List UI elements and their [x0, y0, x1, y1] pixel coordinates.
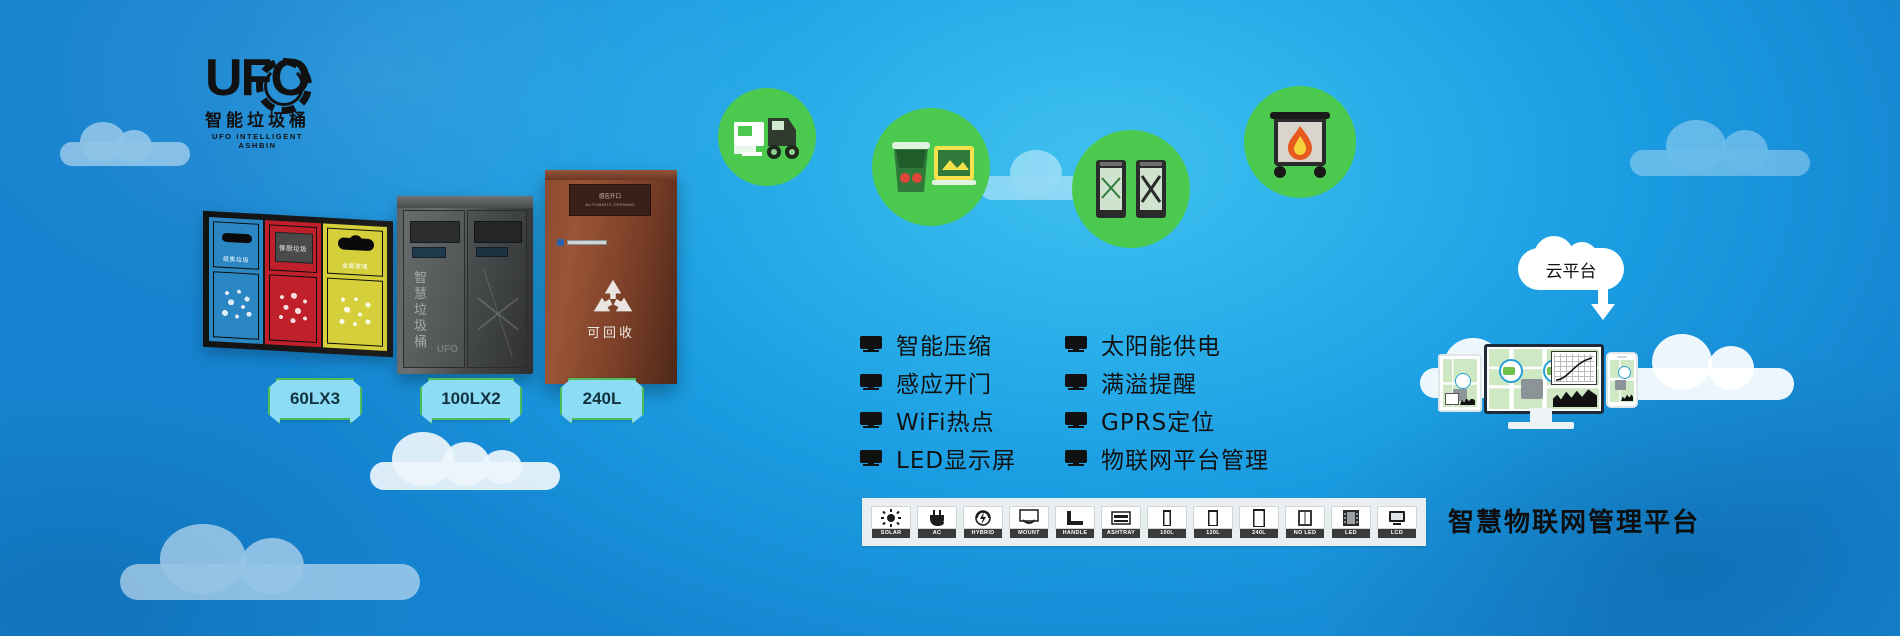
feature-circle-twin-bins [1072, 130, 1190, 248]
feature-label: 太阳能供电 [1101, 327, 1221, 361]
feature-label: 物联网平台管理 [1101, 441, 1269, 475]
monitor-bullet-icon [1065, 374, 1087, 390]
ufo-ring-inner-icon [264, 66, 304, 106]
feature-item: 太阳能供电 [1065, 325, 1269, 363]
capacity-banner-240l: 240L [568, 378, 636, 420]
capacity-label: 240L [583, 389, 622, 409]
spec-item-no-led: NO LED [1285, 506, 1325, 538]
spec-label: NO LED [1286, 529, 1324, 538]
desktop-monitor-device [1484, 344, 1604, 414]
spec-label: HYBRID [964, 529, 1002, 538]
bin-compartment-kitchen: 餐厨垃圾 [265, 220, 321, 347]
smart-bin-side-text: 智慧垃圾桶 [414, 271, 431, 351]
spec-item-hybrid: HYBRID [963, 506, 1003, 538]
capacity-banner-60lx3: 60LX3 [276, 378, 354, 420]
spec-item-ashtray: ASHTRAY [1101, 506, 1141, 538]
bin-100l-icon [1147, 506, 1187, 529]
spec-item-handle: HANDLE [1055, 506, 1095, 538]
spec-label: 120L [1194, 529, 1232, 538]
spec-label: 240L [1240, 529, 1278, 538]
spec-label: ASHTRAY [1102, 529, 1140, 538]
spec-icon-strip: SOLAR AC HYBRID MOUNT [862, 498, 1426, 546]
monitor-bullet-icon [1065, 336, 1087, 352]
bin-compartment-paper: 纸类垃圾 [209, 217, 263, 344]
spec-label: LED [1332, 529, 1370, 538]
cloud-platform-badge: 云平台 [1518, 248, 1624, 290]
spec-label: HANDLE [1056, 529, 1094, 538]
wall-mount-icon [1009, 506, 1049, 529]
feature-column-left: 智能压缩 感应开门 WiFi热点 LED显示屏 [860, 325, 1016, 477]
spec-label: MOUNT [1010, 529, 1048, 538]
bin-120l-icon [1193, 506, 1233, 529]
spec-label: SOLAR [872, 529, 910, 538]
monitor-bullet-icon [1065, 412, 1087, 428]
spec-item-240l: 240L [1239, 506, 1279, 538]
feature-item: 感应开门 [860, 363, 1016, 401]
spec-item-ac: AC [917, 506, 957, 538]
recycle-icon [591, 278, 635, 320]
compartment-label: 纸类垃圾 [214, 253, 258, 264]
feature-column-right: 太阳能供电 满溢提醒 GPRS定位 物联网平台管理 [1065, 325, 1269, 477]
feature-circle-compaction [718, 88, 816, 186]
recycle-bin-top-panel: 感应开口 AUTOMATIC OPENING [569, 184, 651, 216]
solar-panel-bin-icon [872, 108, 990, 226]
spec-item-100l: 100L [1147, 506, 1187, 538]
recycle-bin-top-subtext: AUTOMATIC OPENING [570, 202, 650, 207]
feature-label: 智能压缩 [896, 327, 992, 361]
monitor-bullet-icon [860, 412, 882, 428]
cloud-decoration [1630, 120, 1810, 176]
hybrid-power-icon [963, 506, 1003, 529]
product-recycle-bin: 感应开口 AUTOMATIC OPENING 可回收 [545, 170, 677, 384]
twin-bins-icon [1072, 130, 1190, 248]
platform-title: 智慧物联网管理平台 [1448, 502, 1700, 539]
capacity-label: 60LX3 [290, 389, 340, 409]
compartment-label: 金属玻璃 [328, 260, 382, 272]
no-led-icon [1285, 506, 1325, 529]
cloud-decoration [370, 430, 560, 490]
feature-item: GPRS定位 [1065, 401, 1269, 439]
monitor-base [1508, 422, 1574, 429]
recycle-bin-front-text: 可回收 [545, 322, 677, 341]
spec-label: LCD [1378, 529, 1416, 538]
spec-item-solar: SOLAR [871, 506, 911, 538]
spec-item-lcd: LCD [1377, 506, 1417, 538]
feature-label: LED显示屏 [896, 441, 1016, 475]
feature-label: WiFi热点 [896, 403, 995, 437]
smartphone-device [1606, 352, 1638, 408]
capacity-banner-100lx2: 100LX2 [428, 378, 514, 420]
recycle-bin-top-text: 感应开口 [570, 192, 650, 200]
cloud-decoration [60, 120, 190, 168]
monitor-stand [1530, 408, 1552, 422]
spec-label: AC [918, 529, 956, 538]
feature-item: LED显示屏 [860, 439, 1016, 477]
download-arrow-icon [1588, 286, 1618, 322]
monitor-bullet-icon [1065, 450, 1087, 466]
feature-item: WiFi热点 [860, 401, 1016, 439]
monitor-bullet-icon [860, 450, 882, 466]
spec-item-mount: MOUNT [1009, 506, 1049, 538]
feature-label: 感应开门 [896, 365, 992, 399]
sun-icon [871, 506, 911, 529]
feature-label: 满溢提醒 [1101, 365, 1197, 399]
fire-alarm-bin-icon [1244, 86, 1356, 198]
spec-label: 100L [1148, 529, 1186, 538]
lcd-screen-icon [1377, 506, 1417, 529]
tablet-device [1438, 354, 1482, 412]
cloud-decoration [120, 520, 420, 600]
plug-icon [917, 506, 957, 529]
monitor-bullet-icon [860, 336, 882, 352]
bin-240l-icon [1239, 506, 1279, 529]
led-panel-icon [1331, 506, 1371, 529]
compaction-truck-icon [718, 88, 816, 186]
poster-canvas: UFO 智能垃圾桶 UFO INTELLIGENT ASHBIN 纸类垃圾 餐厨… [0, 0, 1900, 636]
ashtray-icon [1101, 506, 1141, 529]
spec-item-led: LED [1331, 506, 1371, 538]
capacity-label: 100LX2 [441, 389, 501, 409]
smart-bin-left-door: 智慧垃圾桶 UFO [403, 210, 465, 368]
product-three-compartment-bin: 纸类垃圾 餐厨垃圾 金属玻璃 [203, 211, 393, 358]
feature-item: 物联网平台管理 [1065, 439, 1269, 477]
brand-logo: UFO 智能垃圾桶 UFO INTELLIGENT ASHBIN [205, 52, 310, 147]
feature-item: 满溢提醒 [1065, 363, 1269, 401]
handle-icon [1055, 506, 1095, 529]
bin-compartment-metalglass: 金属玻璃 [323, 223, 387, 351]
smart-bin-brandmark: UFO [437, 344, 458, 355]
brand-en-name: UFO INTELLIGENT ASHBIN [205, 132, 310, 150]
smart-bin-right-door [467, 210, 527, 368]
feature-circle-solar [872, 108, 990, 226]
monitor-bullet-icon [860, 374, 882, 390]
spec-item-120l: 120L [1193, 506, 1233, 538]
product-smart-bin-twin: 智慧垃圾桶 UFO [397, 196, 533, 374]
cloud-platform-label: 云平台 [1518, 248, 1624, 290]
feature-label: GPRS定位 [1101, 403, 1215, 437]
feature-circle-fire-alarm [1244, 86, 1356, 198]
feature-item: 智能压缩 [860, 325, 1016, 363]
